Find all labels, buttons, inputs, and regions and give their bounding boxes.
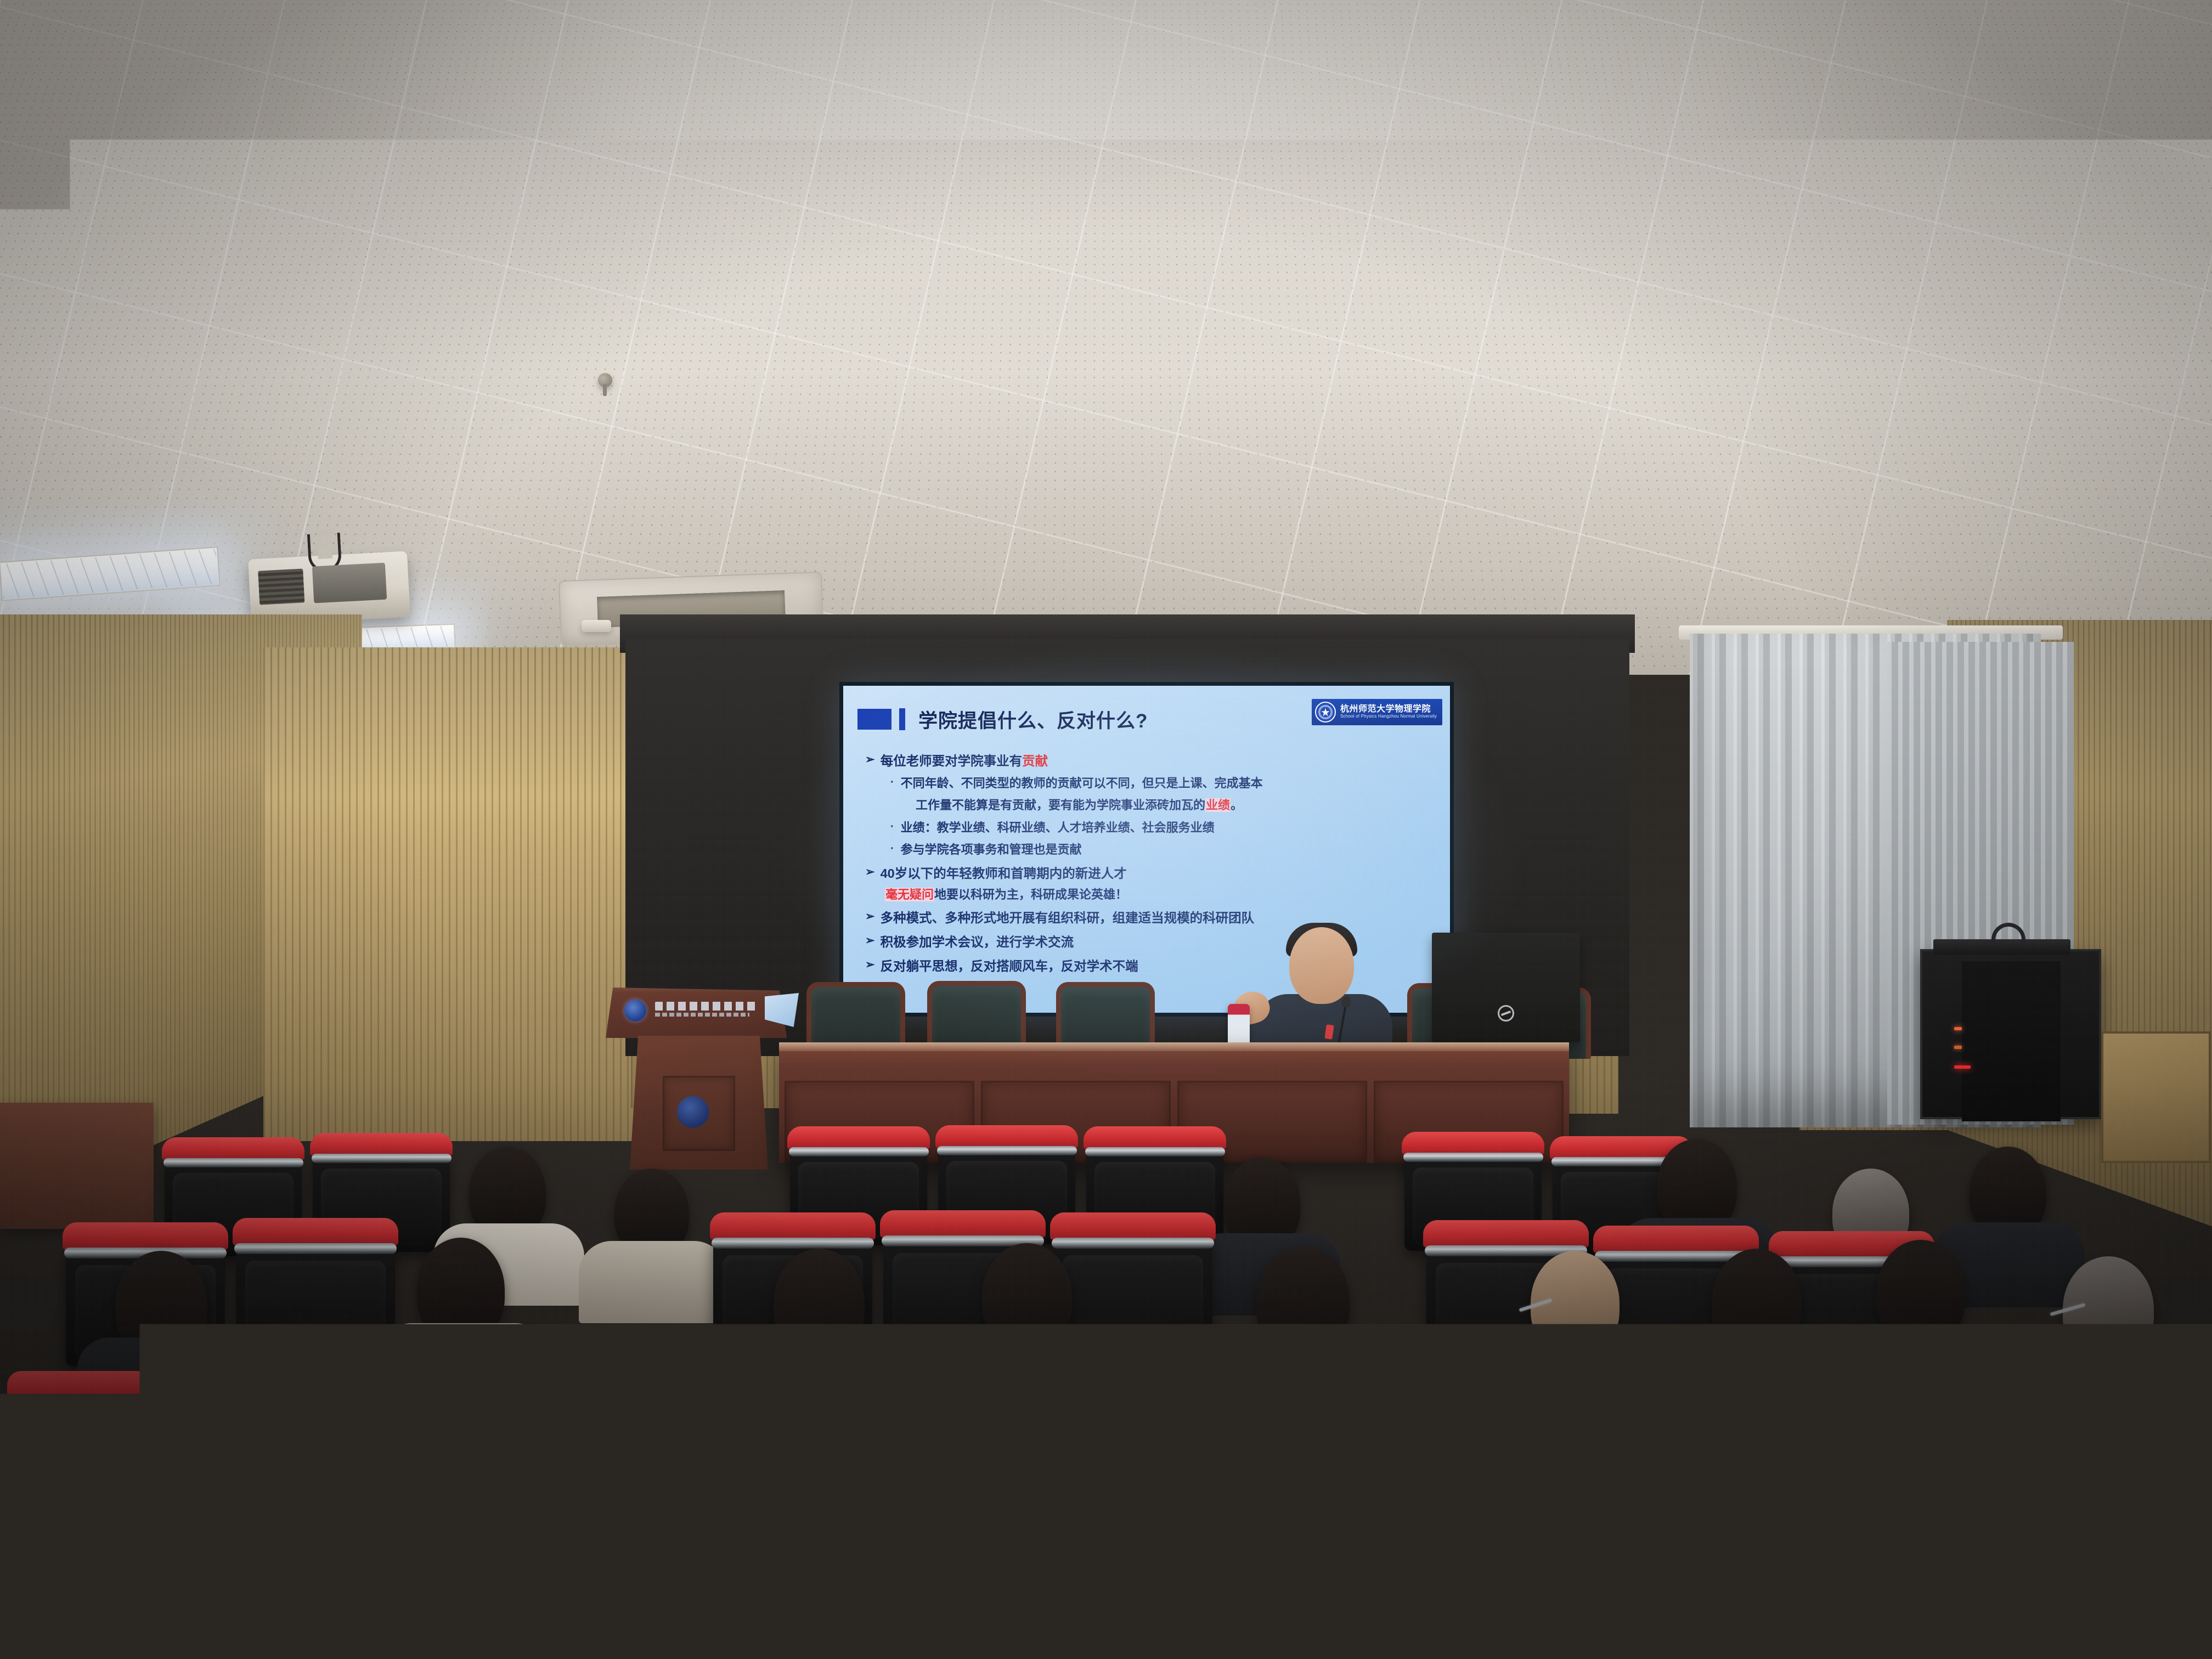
logo-english-name: School of Physics Hangzhou Normal Univer…: [1340, 714, 1437, 719]
audience-area: [0, 1086, 2212, 1659]
bullet-continuation: 毫无疑问地要以科研为主，科研成果论英雄！: [885, 885, 1435, 905]
bullet-item: ➢ 每位老师要对学院事业有贡献: [865, 751, 1435, 771]
smoke-detector: [1909, 554, 1939, 566]
status-led: [1954, 1065, 1971, 1069]
ceiling-light-troffer: [1130, 557, 1470, 600]
bullet-item: · 不同年龄、不同类型的教师的贡献可以不同，但只是上课、完成基本: [890, 774, 1435, 793]
bullet-text: 业绩：教学业绩、科研业绩、人才培养业绩、社会服务业绩: [901, 818, 1215, 838]
auditorium-seat: [236, 1235, 395, 1362]
bullet-text-tail: 地要以科研为主，科研成果论英雄！: [934, 888, 1127, 901]
bullet-item: · 参与学院各项事务和管理也是贡献: [890, 840, 1435, 860]
institution-logo: 杭州师范大学物理学院 School of Physics Hangzhou No…: [1312, 699, 1442, 725]
sprinkler-head: [1690, 351, 1704, 365]
highlight-text: 毫无疑问: [885, 888, 934, 901]
head-table-chair: [927, 981, 1026, 1052]
sprinkler-head: [598, 373, 612, 387]
table-edge: [779, 1042, 1569, 1051]
projector-body: [312, 563, 387, 603]
vent-slot: [1691, 556, 1864, 590]
title-accent-bar: [899, 708, 905, 730]
bullet-marker-arrow: ➢: [865, 907, 875, 928]
audience-shoulders: [579, 1241, 727, 1323]
bullet-text-tail: 。: [1231, 798, 1243, 812]
highlight-text: 业绩: [1205, 798, 1231, 812]
bullet-text: 反对躺平思想，反对搭顺风车，反对学术不端: [881, 956, 1138, 977]
smartphone[interactable]: [1793, 1569, 1816, 1609]
bullet-marker-dot: ·: [890, 774, 894, 793]
auditorium-seat: [1355, 1389, 1542, 1548]
university-emblem-icon: [624, 1000, 646, 1022]
bullet-marker-arrow: ➢: [865, 863, 875, 884]
bullet-item: ➢ 40岁以下的年轻教师和首聘期内的新进人才: [865, 863, 1435, 884]
bullet-continuation: 工作量不能算是有贡献，要有能为学院事业添砖加瓦的业绩。: [916, 795, 1435, 815]
bullet-item: · 业绩：教学业绩、科研业绩、人才培养业绩、社会服务业绩: [890, 818, 1435, 838]
university-seal-icon: [1315, 702, 1336, 723]
projector-vent-grille: [258, 568, 304, 605]
logo-chinese-name: 杭州师范大学物理学院: [1340, 705, 1437, 714]
lectern-sign-text: [655, 1002, 757, 1011]
title-accent-block: [857, 709, 891, 730]
dell-logo-icon: [1498, 1005, 1514, 1022]
bullet-text: 多种模式、多种形式地开展有组织科研，组建适当规模的科研团队: [881, 907, 1255, 928]
speaker-head: [1289, 927, 1354, 1004]
bullet-text: 工作量不能算是有贡献，要有能为学院事业添砖加瓦的: [916, 798, 1205, 812]
vent-slot: [1042, 205, 1180, 311]
bullet-marker-arrow: ➢: [865, 932, 875, 952]
highlight-text: 贡献: [1022, 754, 1048, 768]
ceiling-light-troffer: [2002, 523, 2212, 569]
status-led: [1954, 1046, 1962, 1049]
bullet-marker-dot: ·: [890, 818, 894, 838]
smoke-detector: [582, 620, 611, 632]
bullet-text: 每位老师要对学院事业有贡献: [881, 751, 1048, 771]
auditorium-seat: [11, 1393, 198, 1553]
lectern-sign-subtext: [655, 1013, 749, 1017]
auditorium-seat: [1553, 1397, 1739, 1556]
lecture-hall-scene: 学院提倡什么、反对什么? 杭州师范大学物理学院 School of Physic…: [0, 0, 2212, 1659]
logo-text-group: 杭州师范大学物理学院 School of Physics Hangzhou No…: [1340, 705, 1437, 719]
bullet-marker-arrow: ➢: [865, 956, 875, 977]
bullet-text: 不同年龄、不同类型的教师的贡献可以不同，但只是上课、完成基本: [901, 774, 1263, 793]
auditorium-seat: [631, 1383, 817, 1542]
bullet-marker-dot: ·: [890, 840, 894, 860]
ceiling-ac-vent: [1656, 539, 1899, 607]
auditorium-seat: [1492, 1566, 1728, 1659]
smoke-detector: [1937, 532, 1975, 546]
bullet-text: 参与学院各项事务和管理也是贡献: [901, 840, 1082, 860]
bullet-text: 积极参加学术会议，进行学术交流: [881, 932, 1074, 952]
slide-title: 学院提倡什么、反对什么?: [918, 706, 1148, 733]
status-led: [1954, 1027, 1962, 1030]
dell-monitor: [1432, 933, 1580, 1042]
bullet-marker-arrow: ➢: [865, 751, 875, 771]
bullet-text: 40岁以下的年轻教师和首聘期内的新进人才: [881, 863, 1127, 884]
auditorium-seat: [1245, 1560, 1481, 1659]
ceiling-ac-vent: [1024, 184, 1199, 332]
